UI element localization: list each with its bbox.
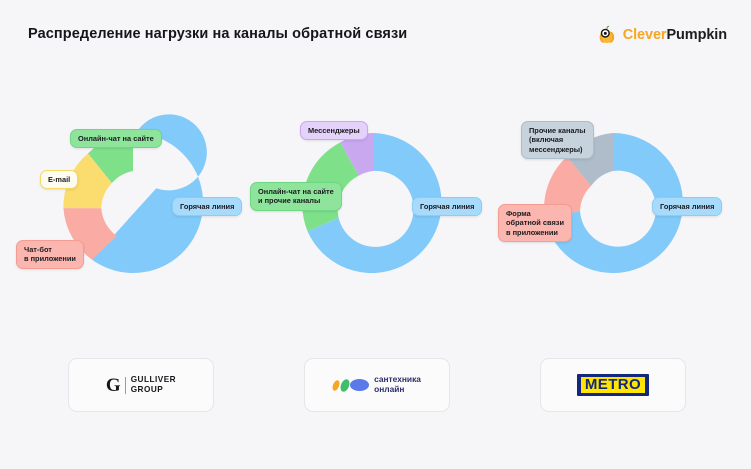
santehnika-line-2: онлайн <box>374 384 404 394</box>
page-title: Распределение нагрузки на каналы обратно… <box>28 26 407 42</box>
santehnika-wordmark: сантехника онлайн <box>374 375 421 395</box>
logo-wordmark: CleverPumpkin <box>623 27 727 43</box>
pumpkin-icon <box>597 25 617 45</box>
gulliver-group-logo: G GULLIVER GROUP <box>106 375 176 394</box>
metro-logo: METRO <box>577 374 649 397</box>
slide-header: Распределение нагрузки на каналы обратно… <box>0 0 751 68</box>
label-online-chat-1[interactable]: Онлайн-чат на сайте <box>70 129 162 148</box>
gulliver-wordmark: GULLIVER GROUP <box>131 375 176 394</box>
label-feedback-form-3[interactable]: Форма обратной связи в приложении <box>498 204 572 242</box>
santehnika-line-1: сантехника <box>374 374 421 384</box>
label-goryachaya-liniya-3[interactable]: Горячая линия <box>652 197 722 216</box>
brand-card-santehnika-online: сантехника онлайн <box>304 358 450 412</box>
donut-chart-1: Горячая линия Чат-бот в приложении E-mai… <box>8 88 258 323</box>
logo-word-pumpkin: Pumpkin <box>666 27 727 43</box>
divider <box>125 377 126 394</box>
gulliver-monogram-icon: G <box>106 376 120 395</box>
brand-card-metro: METRO <box>540 358 686 412</box>
label-chat-bot-1[interactable]: Чат-бот в приложении <box>16 240 84 269</box>
label-messengers-2[interactable]: Мессенджеры <box>300 121 368 140</box>
slide-canvas: Распределение нагрузки на каналы обратно… <box>0 0 751 469</box>
santehnika-online-logo: сантехника онлайн <box>333 375 421 395</box>
donut-chart-3: Горячая линия Форма обратной связи в при… <box>488 88 738 323</box>
label-email-1[interactable]: E-mail <box>40 170 78 189</box>
clever-pumpkin-logo: CleverPumpkin <box>597 25 727 45</box>
logo-word-clever: Clever <box>623 27 667 43</box>
label-other-channels-3[interactable]: Прочие каналы (включая мессенджеры) <box>521 121 594 159</box>
label-goryachaya-liniya-2[interactable]: Горячая линия <box>412 197 482 216</box>
gulliver-line-2: GROUP <box>131 385 164 394</box>
brand-card-gulliver-group: G GULLIVER GROUP <box>68 358 214 412</box>
donut-chart-2: Горячая линия Онлайн-чат на сайте и проч… <box>248 88 498 323</box>
santehnika-blobs-icon <box>333 378 369 392</box>
label-online-chat-other-2[interactable]: Онлайн-чат на сайте и прочие каналы <box>250 182 342 211</box>
metro-wordmark: METRO <box>581 377 645 394</box>
label-goryachaya-liniya-1[interactable]: Горячая линия <box>172 197 242 216</box>
gulliver-line-1: GULLIVER <box>131 375 176 384</box>
